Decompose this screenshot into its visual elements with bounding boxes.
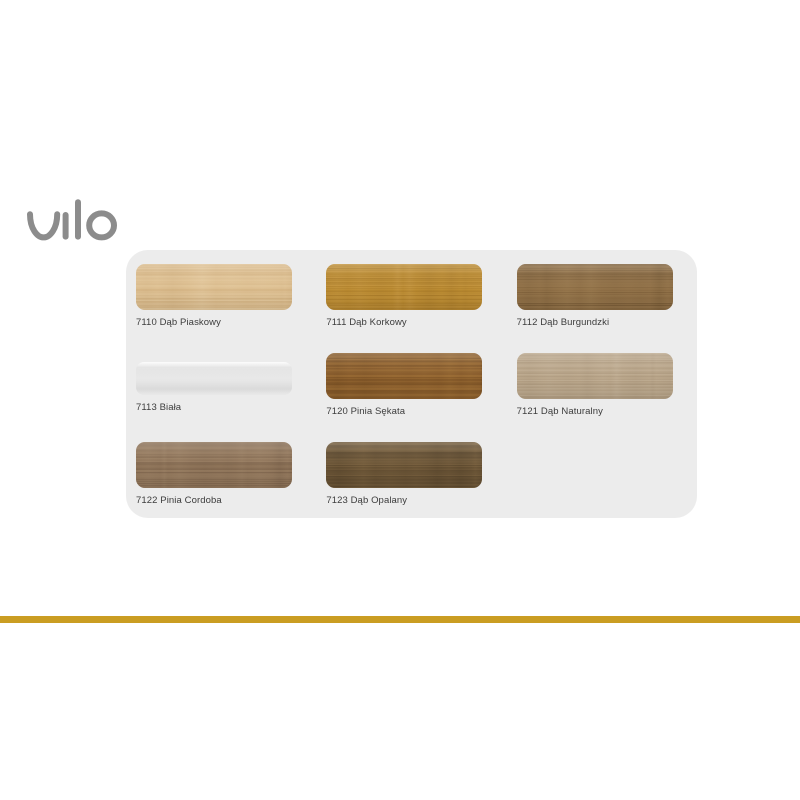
swatch-gloss-overlay [326,353,482,399]
swatch-chip-7121[interactable] [517,353,673,399]
swatch-item-7113[interactable]: 7113 Biała [126,353,316,442]
wood-grain-striation [326,264,482,310]
swatch-label-7110: 7110 Dąb Piaskowy [136,317,316,329]
swatch-row: 7110 Dąb Piaskowy7111 Dąb Korkowy7112 Dą… [126,264,697,353]
wood-grain-striation [517,353,673,399]
swatch-label-7112: 7112 Dąb Burgundzki [517,317,697,329]
swatch-chip-7110[interactable] [136,264,292,310]
wood-grain-figure [517,264,673,310]
swatch-item-7123[interactable]: 7123 Dąb Opalany [316,442,506,531]
swatch-chip-7112[interactable] [517,264,673,310]
swatch-label-7122: 7122 Pinia Cordoba [136,495,316,507]
colour-swatch-panel: 7110 Dąb Piaskowy7111 Dąb Korkowy7112 Dą… [126,250,697,518]
swatch-label-7120: 7120 Pinia Sękata [326,406,506,418]
swatch-item-7112[interactable]: 7112 Dąb Burgundzki [507,264,697,353]
wood-grain-striation [517,264,673,310]
swatch-label-7123: 7123 Dąb Opalany [326,495,506,507]
swatch-chip-7122[interactable] [136,442,292,488]
footer-accent-rule [0,616,800,623]
swatch-label-7113: 7113 Biała [136,402,316,414]
vilo-logo-icon [26,199,118,247]
vilo-logo [26,199,118,247]
swatch-chip-7123[interactable] [326,442,482,488]
swatch-item-7120[interactable]: 7120 Pinia Sękata [316,353,506,442]
wood-grain-striation [326,442,482,488]
swatch-label-7111: 7111 Dąb Korkowy [326,317,506,329]
swatch-grid: 7110 Dąb Piaskowy7111 Dąb Korkowy7112 Dą… [126,264,697,518]
swatch-gloss-overlay [517,353,673,399]
swatch-chip-7113[interactable] [136,362,292,395]
wood-grain-figure [326,264,482,310]
swatch-gloss-overlay [517,264,673,310]
wood-grain-figure [136,442,292,488]
swatch-gloss-overlay [326,442,482,488]
wood-grain-figure [326,353,482,399]
wood-grain-figure [326,442,482,488]
swatch-gloss-overlay [136,442,292,488]
swatch-item-7122[interactable]: 7122 Pinia Cordoba [126,442,316,531]
wood-grain-striation [136,264,292,310]
swatch-item-7110[interactable]: 7110 Dąb Piaskowy [126,264,316,353]
swatch-chip-7120[interactable] [326,353,482,399]
wood-grain-striation [136,442,292,488]
wood-grain-striation [326,353,482,399]
swatch-chip-7111[interactable] [326,264,482,310]
swatch-gloss-overlay [136,362,292,395]
swatch-gloss-overlay [326,264,482,310]
swatch-row: 7113 Biała7120 Pinia Sękata7121 Dąb Natu… [126,353,697,442]
surface-shading [136,362,292,395]
swatch-row: 7122 Pinia Cordoba7123 Dąb Opalany [126,442,697,531]
wood-grain-figure [136,264,292,310]
swatch-item-7121[interactable]: 7121 Dąb Naturalny [507,353,697,442]
swatch-label-7121: 7121 Dąb Naturalny [517,406,697,418]
wood-grain-figure [517,353,673,399]
swatch-item-7111[interactable]: 7111 Dąb Korkowy [316,264,506,353]
swatch-gloss-overlay [136,264,292,310]
